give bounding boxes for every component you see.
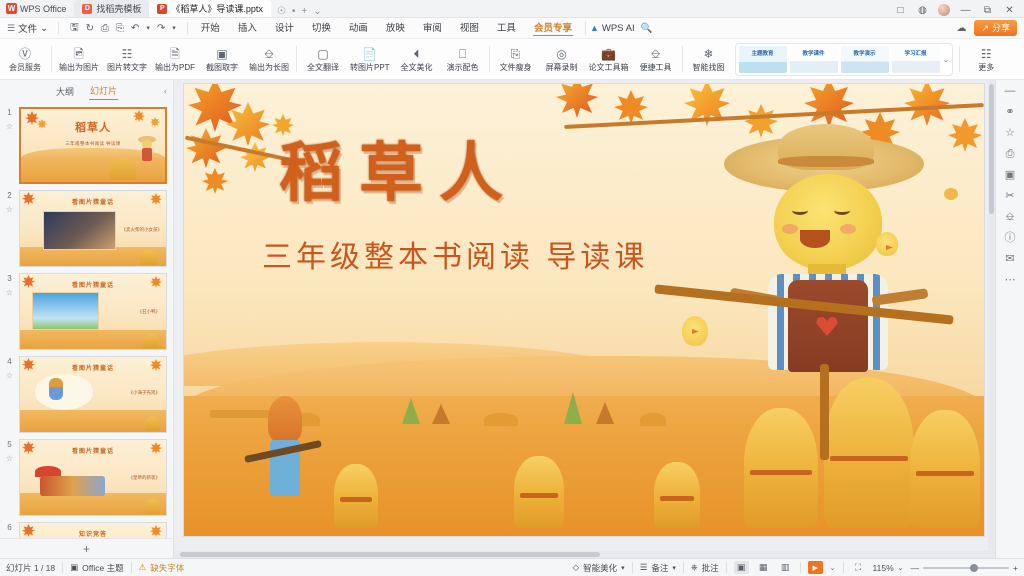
- template-icon: D: [82, 4, 92, 14]
- menu-item-slideshow[interactable]: 放映: [377, 18, 414, 39]
- maple-leaf-icon: [614, 90, 648, 124]
- scrollbar-thumb[interactable]: [180, 552, 600, 557]
- template-gallery-caret-icon[interactable]: ⌄: [943, 55, 950, 64]
- ribbon-button-label: 屏幕录制: [546, 63, 578, 72]
- scarecrow-eye: [792, 206, 808, 215]
- undo-icon[interactable]: ↶: [131, 23, 139, 34]
- slide-thumbnail[interactable]: 知识竞答: [19, 522, 167, 538]
- picture-tool-icon[interactable]: ▣: [1001, 169, 1019, 181]
- share-button[interactable]: ↗ 分享: [974, 20, 1017, 36]
- slide-index-column: 5 ☆: [2, 439, 17, 463]
- ribbon-button-label: 便捷工具: [640, 63, 672, 72]
- close-button[interactable]: ✕: [1003, 5, 1016, 16]
- ribbon-button-label: 全文翻译: [307, 63, 339, 72]
- template-card-teaching-presentation[interactable]: 教学演示: [841, 46, 889, 73]
- cloud-sync-icon[interactable]: ↻: [86, 23, 94, 34]
- divider: [800, 562, 801, 573]
- ribbon-button-label: 文件瘦身: [500, 63, 532, 72]
- slide-thumbnail-item[interactable]: 4 ☆ 看图片猜童话 《小海子先鸡》: [0, 353, 173, 436]
- tab-outline[interactable]: 大纲: [55, 83, 75, 100]
- menu-item-design[interactable]: 设计: [266, 18, 303, 39]
- scarecrow-eye: [834, 206, 850, 215]
- divider: [682, 46, 683, 72]
- undo-caret-icon[interactable]: ▾: [146, 24, 150, 32]
- thumb-header: 看图片猜童话: [20, 197, 166, 206]
- maple-leaf-icon: [186, 128, 226, 168]
- wps-ai-icon: ▲: [590, 23, 599, 33]
- divider: [843, 562, 844, 573]
- color-scheme-icon: ⎕: [459, 46, 466, 61]
- zoom-track[interactable]: [923, 567, 1009, 569]
- wps-ai-label: WPS AI: [602, 23, 635, 34]
- ribbon-button-label: 会员服务: [9, 63, 41, 72]
- slide-thumbnail-panel: 大纲 幻灯片 ‹ 1 ☆: [0, 80, 174, 558]
- thumb-caption: 《小海子先鸡》: [129, 390, 161, 396]
- ribbon-button-label: 全文美化: [401, 63, 433, 72]
- ribbon-button-label: 演示配色: [447, 63, 479, 72]
- wheat-stack: [514, 456, 564, 528]
- zoom-in-button[interactable]: +: [1013, 563, 1018, 573]
- tab-extra-actions: ☉ • + ⌄: [271, 6, 328, 17]
- more-icon[interactable]: ⋯: [1001, 274, 1019, 286]
- menu-right-actions: ☁ ↗ 分享: [956, 20, 1024, 36]
- favorites-icon[interactable]: ☆: [1001, 127, 1019, 139]
- wps-ai-button[interactable]: ▲ WPS AI: [590, 23, 635, 34]
- template-card-teaching-courseware[interactable]: 教学课件: [790, 46, 838, 73]
- cloud-icon[interactable]: ☁: [956, 23, 966, 34]
- ribbon-button-slim-file[interactable]: ⎘ 文件瘦身: [493, 39, 539, 80]
- thumb-header: 看图片猜童话: [20, 363, 166, 372]
- save-icon[interactable]: 🖫: [70, 20, 79, 37]
- wheat-stack: [145, 499, 160, 514]
- thumb-illustration: [35, 374, 93, 410]
- ribbon-button-export-pdf[interactable]: 🗎 输出为PDF: [151, 39, 199, 80]
- translate-icon: ▢: [317, 46, 328, 61]
- slide-index-column: 3 ☆: [2, 273, 17, 297]
- ribbon-button-label: 论文工具箱: [589, 63, 629, 72]
- slim-file-icon: ⎘: [511, 46, 521, 61]
- tree-shape: [402, 398, 420, 424]
- support-pole: [820, 364, 829, 460]
- slide-thumbnail[interactable]: 看图片猜童话 《皇帝的新装》: [19, 439, 167, 516]
- ribbon-button-thesis-toolbox[interactable]: 💼 论文工具箱: [585, 39, 633, 80]
- beautify-icon: ⏴: [414, 46, 420, 61]
- wps-office-label: WPS Office: [20, 4, 66, 14]
- wps-logo-icon: W: [6, 3, 17, 14]
- template-gallery: 主题教育 教学课件 教学演示 学习汇报 ⌄: [735, 43, 954, 76]
- tab-presentation-file[interactable]: P 《稻草人》导读课.pptx: [149, 0, 271, 17]
- warning-label: 缺失字体: [150, 562, 184, 574]
- smart-beautify-icon: ◇: [573, 562, 580, 573]
- vip-service-icon: Ⓥ: [19, 46, 31, 61]
- bush-shape: [640, 413, 666, 426]
- notes-label: 备注: [651, 562, 668, 574]
- slide-title[interactable]: 稻草人: [279, 122, 519, 214]
- thumb-caption: 《皇帝的新装》: [129, 475, 161, 481]
- ribbon-button-color-scheme[interactable]: ⎕ 演示配色: [440, 39, 486, 80]
- wps-office-logo[interactable]: W WPS Office: [0, 0, 74, 17]
- slide-index-column: 1 ☆: [2, 107, 17, 131]
- reading-view-button[interactable]: ▥: [778, 561, 793, 574]
- menu-item-insert[interactable]: 插入: [229, 18, 266, 39]
- favorite-icon[interactable]: ☆: [3, 454, 16, 463]
- slide-editing-stage: 稻草人 三年级整本书阅读 导读课: [174, 80, 995, 558]
- to-image-ppt-icon: 📄: [362, 46, 377, 61]
- tree-shape: [564, 392, 582, 424]
- add-slide-button[interactable]: +: [0, 538, 173, 558]
- ribbon-button-smart-image-search[interactable]: ❄ 智能找图: [686, 39, 732, 80]
- wheat-stack: [334, 464, 378, 528]
- main-area: 大纲 幻灯片 ‹ 1 ☆: [0, 80, 1024, 558]
- ribbon-button-vip-service[interactable]: Ⓥ 会员服务: [2, 39, 48, 80]
- scarecrow-illustration: [712, 124, 962, 454]
- slide-thumbnail[interactable]: 看图片猜童话 《小海子先鸡》: [19, 356, 167, 433]
- chick-icon: [876, 232, 898, 256]
- menu-item-view[interactable]: 视图: [451, 18, 488, 39]
- divider: [683, 562, 684, 573]
- zoom-knob[interactable]: [970, 564, 978, 572]
- slide-thumbnail-item[interactable]: 5 ☆ 看图片猜童话 《皇帝的新装》: [0, 436, 173, 519]
- export-image-icon: 🖻: [74, 46, 84, 61]
- current-slide-canvas[interactable]: 稻草人 三年级整本书阅读 导读课: [184, 84, 984, 536]
- divider: [959, 46, 960, 72]
- divider: [296, 46, 297, 72]
- chevron-down-icon: ⌄: [40, 23, 48, 34]
- smart-image-search-icon: ❄: [704, 46, 714, 61]
- slide-thumbnail-item[interactable]: 2 ☆ 看图片猜童话 《卖火柴的小女孩》: [0, 187, 173, 270]
- ribbon-button-export-image[interactable]: 🖻 输出为图片: [55, 39, 103, 80]
- slide-thumbnail-list[interactable]: 1 ☆ 稻草人 三年级整本书阅读 导读课: [0, 102, 173, 538]
- file-menu-button[interactable]: ☰ 文件 ⌄: [0, 21, 54, 35]
- divider: [585, 22, 586, 34]
- thumb-character: [49, 378, 63, 400]
- ribbon-button-more[interactable]: ☷ 更多: [963, 39, 1009, 80]
- ribbon-button-label: 输出为PDF: [155, 63, 195, 72]
- title-tab-bar: W WPS Office D 找稻壳模板 P 《稻草人》导读课.pptx ☉ •…: [0, 0, 1024, 18]
- slide-counter[interactable]: 幻灯片 1 / 18: [6, 562, 55, 574]
- slide-number: 6: [3, 522, 16, 532]
- slide-number: 1: [3, 107, 16, 117]
- divider: [726, 562, 727, 573]
- avatar[interactable]: [938, 4, 950, 16]
- template-label: 学习汇报: [905, 49, 927, 57]
- ribbon-button-handy-tools[interactable]: ⎒ 便捷工具: [633, 39, 679, 80]
- help-icon[interactable]: ⓘ: [1001, 232, 1019, 244]
- ribbon-group-export: 🖻 输出为图片 ☷ 图片转文字 🗎 输出为PDF ▣ 截图取字 ⎒ 输出为长图: [55, 39, 293, 80]
- ribbon-button-image-to-text[interactable]: ☷ 图片转文字: [103, 39, 151, 80]
- tab-label: 《稻草人》导读课.pptx: [171, 2, 263, 15]
- comment-icon: ⎈: [691, 562, 698, 573]
- comments-button[interactable]: ⎈ 批注: [691, 562, 719, 574]
- ribbon-button-label: 转图片PPT: [350, 63, 390, 72]
- share-label: 分享: [992, 22, 1010, 34]
- menu-bar: ☰ 文件 ⌄ 🖫 ↻ ⎙ ⎘ ↶ ▾ ↷ ▾ 开始 插入 设计 切换 动画 放映…: [0, 18, 1024, 39]
- zoom-out-button[interactable]: —: [911, 563, 920, 573]
- slide-panel-tabs: 大纲 幻灯片 ‹: [0, 80, 173, 102]
- feedback-icon[interactable]: ✉: [1001, 253, 1019, 265]
- scarecrow-face: [774, 174, 882, 270]
- tree-shape: [596, 402, 614, 424]
- theme-status[interactable]: ▣ Office 主题: [70, 562, 123, 574]
- notes-button[interactable]: ☰ 备注 ▾: [640, 562, 676, 574]
- ribbon-group-enhance: ▢ 全文翻译 📄 转图片PPT ⏴ 全文美化 ⎕ 演示配色: [300, 39, 486, 80]
- tab-slides[interactable]: 幻灯片: [89, 82, 118, 100]
- favorite-icon[interactable]: ☆: [3, 205, 16, 214]
- menu-items: 开始 插入 设计 切换 动画 放映 审阅 视图 工具 会员专享: [192, 18, 581, 39]
- template-card-theme-education[interactable]: 主题教育: [739, 46, 787, 73]
- status-bar: 幻灯片 1 / 18 ▣ Office 主题 ⚠ 缺失字体 ◇ 智能美化 ▾ ☰…: [0, 558, 1024, 576]
- slide-thumbnail[interactable]: 看图片猜童话 《卖火柴的小女孩》: [19, 190, 167, 267]
- chevron-down-icon: ⌄: [898, 564, 904, 572]
- share-icon: ↗: [981, 22, 989, 34]
- template-label: 主题教育: [752, 49, 774, 57]
- ribbon-button-label: 输出为图片: [59, 63, 99, 72]
- thumb-field: [20, 493, 166, 516]
- maple-leaf-icon: [804, 84, 854, 128]
- template-label: 教学演示: [854, 49, 876, 57]
- ribbon-button-translate[interactable]: ▢ 全文翻译: [300, 39, 346, 80]
- ribbon-toolbar: Ⓥ 会员服务 🖻 输出为图片 ☷ 图片转文字 🗎 输出为PDF ▣ 截图取字: [0, 39, 1024, 80]
- slide-thumbnail[interactable]: 看图片猜童话 《丑小鸭》: [19, 273, 167, 350]
- thumb-title: 稻草人: [21, 119, 165, 135]
- screenshot-ocr-icon: ▣: [216, 46, 227, 61]
- collapse-panel-icon[interactable]: ‹: [164, 86, 167, 96]
- notes-icon: ☰: [640, 562, 648, 573]
- tab-template-store[interactable]: D 找稻壳模板: [74, 0, 149, 17]
- export-pdf-icon: 🗎: [170, 46, 180, 61]
- minimize-button[interactable]: —: [959, 5, 972, 16]
- redo-caret-icon[interactable]: ▾: [172, 24, 176, 32]
- left-scarecrow-head: [268, 396, 302, 442]
- wheat-stack: [654, 462, 700, 528]
- wheat-stack: [145, 416, 160, 431]
- divider: [489, 46, 490, 72]
- ribbon-button-label: 图片转文字: [107, 63, 147, 72]
- handy-tools-icon: ⎒: [651, 46, 660, 61]
- menu-item-tools[interactable]: 工具: [488, 18, 525, 39]
- slideshow-caret-icon[interactable]: ⌄: [830, 564, 836, 572]
- thumb-caption: 《丑小鸭》: [138, 309, 161, 315]
- thumb-picture: [43, 211, 116, 250]
- divider: [131, 562, 132, 573]
- right-tool-rail: — ⚭ ☆ ⎙ ▣ ✂ ⎒ ⓘ ✉ ⋯: [995, 80, 1024, 558]
- slide-thumbnail-item[interactable]: 6 知识竞答: [0, 519, 173, 538]
- scarecrow-body: [142, 148, 152, 161]
- font-missing-warning[interactable]: ⚠ 缺失字体: [139, 562, 185, 574]
- comment-icon[interactable]: ☉: [277, 6, 286, 17]
- theme-label: Office 主题: [82, 562, 123, 574]
- favorite-icon[interactable]: ☆: [3, 371, 16, 380]
- slide-thumbnail-item[interactable]: 3 ☆ 看图片猜童话 《丑小鸭》: [0, 270, 173, 353]
- ribbon-button-screenshot-ocr[interactable]: ▣ 截图取字: [199, 39, 245, 80]
- slide-number: 5: [3, 439, 16, 449]
- thesis-toolbox-icon: 💼: [601, 46, 616, 61]
- straw-hat-band: [778, 156, 874, 167]
- scrollbar-thumb[interactable]: [989, 84, 994, 214]
- divider: [62, 562, 63, 573]
- maple-leaf-icon: [202, 168, 228, 194]
- slide-subtitle[interactable]: 三年级整本书阅读 导读课: [262, 232, 648, 276]
- ribbon-button-export-long-image[interactable]: ⎒ 输出为长图: [245, 39, 293, 80]
- divider: [51, 46, 52, 72]
- template-card-study-report[interactable]: 学习汇报: [892, 46, 940, 73]
- zoom-value: 115%: [873, 563, 894, 573]
- slide-number: 4: [3, 356, 16, 366]
- selection-pane-icon[interactable]: ⎒: [1001, 211, 1019, 223]
- theme-icon: ▣: [70, 562, 78, 573]
- restore-window-icon[interactable]: □: [894, 5, 907, 16]
- stage-vertical-scrollbar[interactable]: [988, 80, 995, 558]
- zoom-slider[interactable]: — +: [911, 563, 1018, 573]
- chevron-down-icon: ▾: [672, 564, 676, 572]
- new-tab-button[interactable]: +: [301, 6, 307, 17]
- thumb-picture: [32, 292, 99, 330]
- smart-beautify-label: 智能美化: [583, 562, 617, 574]
- menu-item-member-exclusive[interactable]: 会员专享: [525, 18, 581, 39]
- maple-leaf-icon: [556, 84, 598, 118]
- design-ideas-icon[interactable]: ⚭: [1001, 106, 1019, 118]
- minimize-panel-icon[interactable]: —: [1001, 85, 1019, 97]
- screen-record-icon: ◎: [556, 46, 566, 61]
- divider: [632, 562, 633, 573]
- scarecrow-figure: [138, 136, 156, 166]
- thumb-header: 知识竞答: [20, 529, 166, 538]
- print-icon[interactable]: ⎙: [101, 23, 109, 34]
- more-dot-icon[interactable]: •: [292, 6, 296, 17]
- slide-sorter-view-button[interactable]: ▦: [756, 561, 771, 574]
- menu-item-transition[interactable]: 切换: [303, 18, 340, 39]
- export-long-image-icon: ⎒: [264, 46, 273, 61]
- layers-icon[interactable]: ⎙: [1001, 148, 1019, 160]
- start-slideshow-button[interactable]: ▶: [808, 561, 823, 574]
- slide-index-column: 4 ☆: [2, 356, 17, 380]
- normal-view-button[interactable]: ▣: [734, 561, 749, 574]
- favorite-icon[interactable]: ☆: [3, 288, 16, 297]
- thumb-caption: 《卖火柴的小女孩》: [122, 227, 163, 233]
- menu-item-review[interactable]: 审阅: [414, 18, 451, 39]
- thumb-header: 看图片猜童话: [20, 280, 166, 289]
- thumb-figures: [40, 476, 104, 496]
- chick-icon: [682, 316, 708, 346]
- ribbon-group-utility: ⎘ 文件瘦身 ◎ 屏幕录制 💼 论文工具箱 ⎒ 便捷工具: [493, 39, 679, 80]
- slide-thumbnail[interactable]: 稻草人 三年级整本书阅读 导读课: [19, 107, 167, 184]
- slide-thumbnail-item[interactable]: 1 ☆ 稻草人 三年级整本书阅读 导读课: [0, 104, 173, 187]
- scarecrow-mouth: [800, 230, 830, 248]
- bush-shape: [484, 413, 518, 426]
- wheat-stack: [140, 250, 157, 265]
- ribbon-button-label: 截图取字: [206, 63, 238, 72]
- ribbon-button-beautify[interactable]: ⏴ 全文美化: [394, 39, 440, 80]
- warning-icon: ⚠: [139, 562, 147, 573]
- slide-number: 3: [3, 273, 16, 283]
- search-icon[interactable]: 🔍: [635, 23, 659, 34]
- menu-item-animation[interactable]: 动画: [340, 18, 377, 39]
- ribbon-group-member: Ⓥ 会员服务: [2, 39, 48, 80]
- stage-horizontal-scrollbar[interactable]: [174, 551, 995, 558]
- zoom-level[interactable]: 115% ⌄: [873, 563, 904, 573]
- tab-label: 找稻壳模板: [96, 2, 141, 15]
- image-to-text-icon: ☷: [122, 46, 133, 61]
- wheat-stack: [110, 158, 136, 180]
- hamburger-icon: ☰: [7, 23, 15, 34]
- maple-leaf-icon: [240, 142, 270, 172]
- divider: [187, 22, 188, 34]
- ribbon-button-screen-record[interactable]: ◎ 屏幕录制: [539, 39, 585, 80]
- ribbon-button-label: 输出为长图: [249, 63, 289, 72]
- scarecrow-cheek: [840, 224, 856, 234]
- fit-to-window-button[interactable]: ⛶: [851, 561, 866, 574]
- ribbon-button-to-image-ppt[interactable]: 📄 转图片PPT: [346, 39, 394, 80]
- quick-access-toolbar: 🖫 ↻ ⎙ ⎘ ↶ ▾ ↷ ▾: [63, 20, 183, 37]
- powerpoint-icon: P: [157, 4, 167, 14]
- comments-label: 批注: [702, 562, 719, 574]
- ribbon-group-smart-image: ❄ 智能找图: [686, 39, 732, 80]
- file-menu-label: 文件: [18, 21, 37, 35]
- ribbon-button-label: 智能找图: [693, 63, 725, 72]
- template-label: 教学课件: [803, 49, 825, 57]
- wps-presentation-window: W WPS Office D 找稻壳模板 P 《稻草人》导读课.pptx ☉ •…: [0, 0, 1024, 576]
- maximize-button[interactable]: ⧉: [981, 5, 994, 16]
- slide-index-column: 2 ☆: [2, 190, 17, 214]
- scarecrow-cheek: [782, 224, 798, 234]
- favorite-icon[interactable]: ☆: [3, 122, 16, 131]
- smart-beautify-button[interactable]: ◇ 智能美化 ▾: [573, 562, 625, 574]
- left-scarecrow-figure: [256, 396, 318, 516]
- thumb-header: 看图片猜童话: [20, 446, 166, 455]
- redo-icon[interactable]: ↷: [157, 23, 165, 34]
- scissors-icon[interactable]: ✂: [1001, 190, 1019, 202]
- wheat-stack: [143, 334, 159, 348]
- menu-item-start[interactable]: 开始: [192, 18, 229, 39]
- slide-number: 2: [3, 190, 16, 200]
- more-panel-icon: ☷: [981, 46, 992, 61]
- print-preview-icon[interactable]: ⎘: [116, 23, 124, 34]
- window-controls: □ ◍ — ⧉ ✕: [886, 4, 1024, 17]
- thumb-field: [20, 410, 166, 433]
- thumb-canopy: [35, 466, 61, 477]
- globe-icon[interactable]: ◍: [916, 5, 929, 16]
- divider: [58, 22, 59, 34]
- ribbon-button-label: 更多: [978, 63, 994, 72]
- slide-index-column: 6: [2, 522, 17, 532]
- new-tab-caret-icon[interactable]: ⌄: [313, 6, 321, 17]
- chevron-down-icon: ▾: [621, 564, 625, 572]
- tree-shape: [432, 404, 450, 424]
